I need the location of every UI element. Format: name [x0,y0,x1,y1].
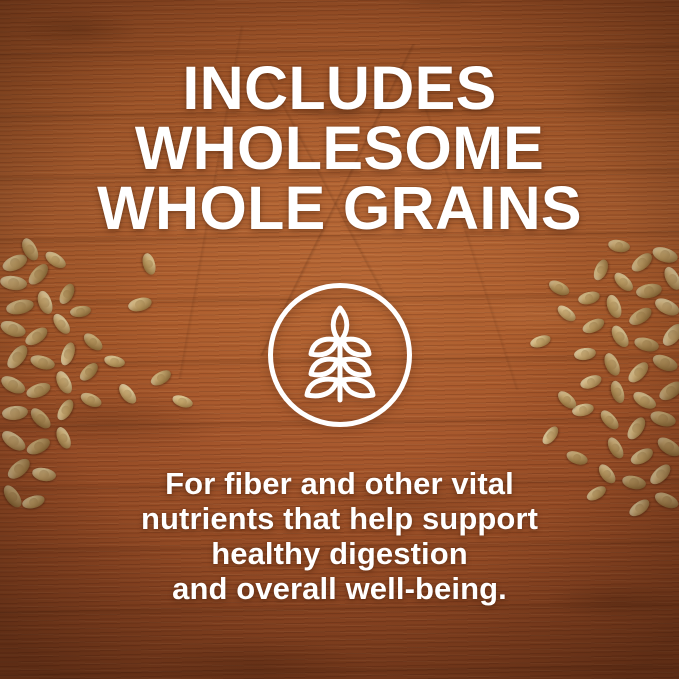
subcopy-line-2: nutrients that help support [0,501,679,536]
headline-line-2: WHOLESOME [0,118,679,178]
headline-line-3: WHOLE GRAINS [0,178,679,238]
subcopy-line-3: healthy digestion [0,536,679,571]
subcopy-line-4: and overall well-being. [0,571,679,606]
whole-grain-badge [267,282,413,428]
headline: INCLUDES WHOLESOME WHOLE GRAINS [0,58,679,238]
wheat-stalk-icon [267,282,413,428]
subcopy: For fiber and other vital nutrients that… [0,466,679,606]
headline-line-1: INCLUDES [0,58,679,118]
subcopy-line-1: For fiber and other vital [0,466,679,501]
marketing-panel: INCLUDES WHOLESOME WHOLE GRAINS [0,0,679,679]
